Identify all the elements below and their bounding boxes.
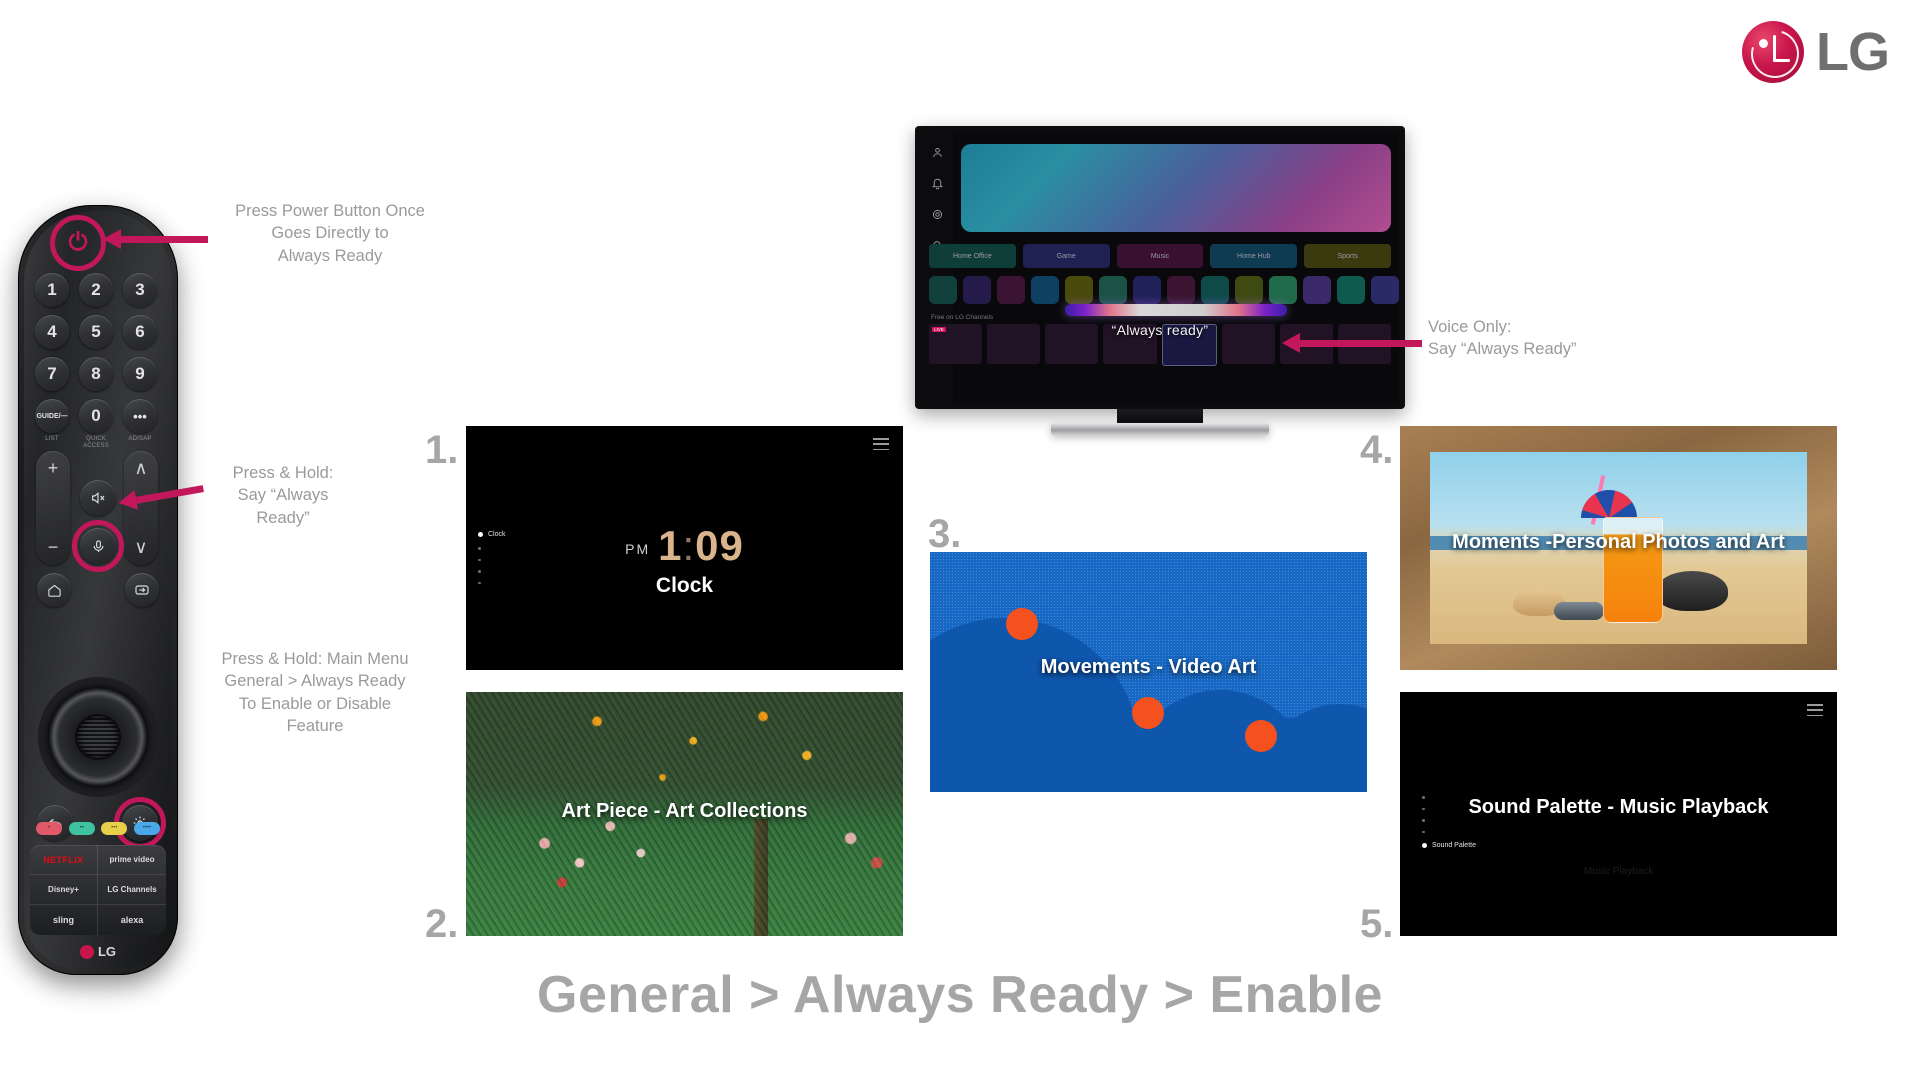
- home-icon: [47, 583, 62, 598]
- tv-app-tile[interactable]: [997, 276, 1025, 304]
- beach-sunglasses: [1554, 602, 1604, 620]
- video-art-dot-2: [1132, 697, 1164, 729]
- lg-logo: LG: [1742, 16, 1902, 88]
- clock-meridiem: PM: [625, 541, 650, 557]
- callout-settings-line-2: General > Always Ready: [190, 670, 440, 692]
- tv-app-row: [929, 276, 1391, 304]
- clock-minutes: 09: [695, 522, 744, 569]
- color-button-yellow[interactable]: •••: [101, 822, 127, 835]
- key-7[interactable]: 7: [35, 357, 69, 391]
- movements-caption: Movements - Video Art: [930, 656, 1367, 679]
- tv-card-music[interactable]: Music: [1117, 244, 1204, 268]
- panel-clock[interactable]: Clock PM1:09 Clock: [466, 426, 903, 670]
- tv-card-sports[interactable]: Sports: [1304, 244, 1391, 268]
- panel-number-2: 2.: [425, 902, 458, 947]
- tv-app-tile-media[interactable]: [1337, 276, 1365, 304]
- tv-stand-base: [1051, 423, 1269, 435]
- input-button[interactable]: [125, 573, 159, 607]
- home-button[interactable]: [37, 573, 71, 607]
- tv-app-tile-record[interactable]: [1371, 276, 1399, 304]
- tv-hero-banner[interactable]: [961, 144, 1391, 232]
- volume-rocker[interactable]: + −: [36, 451, 70, 565]
- callout-voice-only: Voice Only: Say “Always Ready”: [1428, 316, 1688, 361]
- app-button-netflix[interactable]: NETFLIX: [30, 845, 98, 875]
- bottom-title: General > Always Ready > Enable: [0, 965, 1920, 1025]
- guide-button[interactable]: GUIDE/—: [35, 399, 69, 433]
- key-2[interactable]: 2: [79, 273, 113, 307]
- volume-up-icon: +: [48, 458, 59, 479]
- panel-number-3: 3.: [928, 512, 961, 557]
- clock-hours: 1: [658, 522, 682, 569]
- mute-button[interactable]: [80, 480, 116, 516]
- callout-power-line-1: Press Power Button Once: [210, 200, 450, 222]
- voice-caption: “Always ready”: [921, 322, 1399, 338]
- color-blue-dots: ••••: [134, 825, 160, 831]
- callout-power-line-2: Goes Directly to: [210, 222, 450, 244]
- quick-access-label: QUICK ACCESS: [79, 436, 113, 449]
- key-5[interactable]: 5: [79, 315, 113, 349]
- video-art-dot-1: [1006, 608, 1038, 640]
- tv-app-tile[interactable]: [1235, 276, 1263, 304]
- voice-listening-indicator: [1065, 304, 1287, 316]
- tv-app-tile-globe[interactable]: [1303, 276, 1331, 304]
- clock-title: Clock: [466, 574, 903, 598]
- panel-sound-palette[interactable]: Sound Palette Sound Palette - Music Play…: [1400, 692, 1837, 936]
- callout-mic: Press & Hold: Say “Always Ready”: [208, 462, 358, 529]
- tv-screen: Home Office Game Music Home Hub Sports: [921, 132, 1399, 403]
- tv-app-tile[interactable]: [1133, 276, 1161, 304]
- video-art-ground: [930, 718, 1367, 792]
- tv-app-tile-apps[interactable]: [1269, 276, 1297, 304]
- art-piece-caption: Art Piece - Art Collections: [466, 800, 903, 823]
- hamburger-icon[interactable]: [1807, 704, 1823, 716]
- scroll-wheel-dpad[interactable]: [38, 677, 158, 797]
- panel-number-4: 4.: [1360, 428, 1393, 473]
- color-button-row: • •• ••• ••••: [36, 822, 160, 836]
- beach-shell-dark: [1656, 571, 1728, 611]
- tv-app-tile[interactable]: [1201, 276, 1229, 304]
- drink-umbrella: [1581, 490, 1637, 518]
- bell-icon[interactable]: [931, 177, 944, 190]
- lg-mark-icon: [1742, 21, 1804, 83]
- lg-wordmark: LG: [1816, 25, 1889, 79]
- mic-highlight-ring: [72, 520, 124, 572]
- tv-app-tile[interactable]: [1065, 276, 1093, 304]
- tv-app-tile[interactable]: [929, 276, 957, 304]
- panel-moments[interactable]: Moments -Personal Photos and Art: [1400, 426, 1837, 670]
- callout-settings: Press & Hold: Main Menu General > Always…: [190, 648, 440, 737]
- key-1[interactable]: 1: [35, 273, 69, 307]
- color-green-dots: ••: [69, 825, 95, 831]
- moments-caption: Moments -Personal Photos and Art: [1400, 531, 1837, 554]
- app-button-disney-plus[interactable]: Disney+: [30, 875, 98, 905]
- callout-settings-line-1: Press & Hold: Main Menu: [190, 648, 440, 670]
- sound-palette-subtext: Music Playback: [1400, 866, 1837, 877]
- callout-voice-line-1: Voice Only:: [1428, 316, 1688, 338]
- tv-card-home-hub[interactable]: Home Hub: [1210, 244, 1297, 268]
- panel-number-1: 1.: [425, 428, 458, 473]
- key-3[interactable]: 3: [123, 273, 157, 307]
- color-button-red[interactable]: •: [36, 822, 62, 835]
- tv-illustration: Home Office Game Music Home Hub Sports: [915, 126, 1405, 409]
- ad-sap-label: AD/SAP: [117, 436, 163, 443]
- list-label: LIST: [35, 436, 69, 443]
- key-6[interactable]: 6: [123, 315, 157, 349]
- callout-mic-line-3: Ready”: [208, 507, 358, 529]
- callout-power-line-3: Always Ready: [210, 245, 450, 267]
- key-9[interactable]: 9: [123, 357, 157, 391]
- channel-up-icon: ∧: [134, 458, 147, 479]
- app-button-lg-channels[interactable]: LG Channels: [98, 875, 166, 905]
- gear-icon[interactable]: [931, 208, 944, 221]
- tv-bezel: Home Office Game Music Home Hub Sports: [915, 126, 1405, 409]
- channel-down-icon: ∨: [134, 537, 147, 558]
- art-tree-trunk: [754, 819, 768, 936]
- callout-settings-line-3: To Enable or Disable: [190, 693, 440, 715]
- input-icon: [134, 583, 150, 597]
- callout-power: Press Power Button Once Goes Directly to…: [210, 200, 450, 267]
- tv-app-tile[interactable]: [1167, 276, 1195, 304]
- tv-app-tile[interactable]: [963, 276, 991, 304]
- callout-voice-line-2: Say “Always Ready”: [1428, 338, 1688, 360]
- app-button-prime-video[interactable]: prime video: [98, 845, 166, 875]
- tv-card-game[interactable]: Game: [1023, 244, 1110, 268]
- color-yellow-dots: •••: [101, 825, 127, 831]
- clock-separator: :: [682, 522, 695, 569]
- hamburger-icon[interactable]: [873, 438, 889, 450]
- app-button-sling[interactable]: sling: [30, 905, 98, 935]
- tv-app-tile[interactable]: [1031, 276, 1059, 304]
- callout-mic-line-2: Say “Always: [208, 484, 358, 506]
- power-highlight-ring: [50, 215, 106, 271]
- tv-stand-neck: [1117, 409, 1203, 423]
- key-4[interactable]: 4: [35, 315, 69, 349]
- more-button[interactable]: •••: [123, 399, 157, 433]
- key-0[interactable]: 0: [79, 399, 113, 433]
- panel-movements[interactable]: Movements - Video Art: [930, 552, 1367, 792]
- panel-art-piece[interactable]: Art Piece - Art Collections: [466, 692, 903, 936]
- color-button-blue[interactable]: ••••: [134, 822, 160, 835]
- tv-free-channels-label: Free on LG Channels: [931, 314, 993, 321]
- callout-mic-line-1: Press & Hold:: [208, 462, 358, 484]
- panel-number-5: 5.: [1360, 902, 1393, 947]
- video-art-dot-3: [1245, 720, 1277, 752]
- mute-icon: [90, 490, 106, 506]
- app-shortcut-pad: NETFLIX prime video Disney+ LG Channels …: [30, 845, 166, 935]
- color-red-dots: •: [36, 825, 62, 831]
- remote-lg-mark-icon: [80, 945, 94, 959]
- clock-time: PM1:09: [466, 522, 903, 570]
- callout-settings-line-4: Feature: [190, 715, 440, 737]
- key-8[interactable]: 8: [79, 357, 113, 391]
- remote-lg-wordmark: LG: [98, 944, 116, 959]
- magic-remote: ⏻ 1 2 3 4 5 6 7 8 9 GUIDE/— 0 ••• LIST Q…: [18, 205, 178, 975]
- remote-lg-logo: LG: [80, 944, 116, 959]
- tv-card-home-office[interactable]: Home Office: [929, 244, 1016, 268]
- sound-palette-dot-label: Sound Palette: [1432, 842, 1476, 849]
- account-icon[interactable]: [931, 146, 944, 159]
- tv-app-tile[interactable]: [1099, 276, 1127, 304]
- sound-palette-caption: Sound Palette - Music Playback: [1400, 796, 1837, 819]
- app-button-alexa[interactable]: alexa: [98, 905, 166, 935]
- color-button-green[interactable]: ••: [69, 822, 95, 835]
- slide-canvas: LG ⏻ 1 2 3 4 5 6 7 8 9 GUIDE/— 0 ••• LIS…: [0, 0, 1920, 1080]
- volume-down-icon: −: [48, 537, 59, 558]
- tv-category-row: Home Office Game Music Home Hub Sports: [929, 244, 1391, 268]
